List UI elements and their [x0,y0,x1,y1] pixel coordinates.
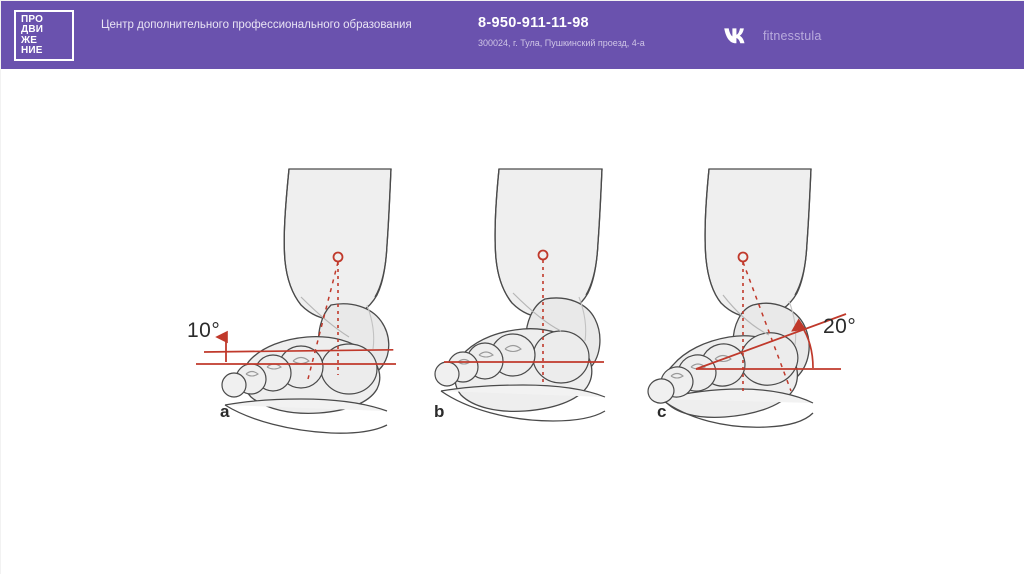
slide: ПРО ДВИ ЖЕ НИЕ Центр дополнительного про… [0,0,1024,574]
vk-icon [723,27,751,45]
panel-letter-a: a [220,402,229,422]
vk-account-name: fitnesstula [763,29,821,43]
contact-block: 8-950-911-11-98 300024, г. Тула, Пушкинс… [478,14,645,50]
angle-label-c: 20° [823,315,856,339]
prodvizhenie-logo[interactable]: ПРО ДВИ ЖЕ НИЕ [14,10,74,61]
logo-line-4: НИЕ [21,46,43,57]
vk-link[interactable]: fitnesstula [723,27,821,45]
phone-number[interactable]: 8-950-911-11-98 [478,14,645,32]
organization-title: Центр дополнительного профессионального … [101,17,431,33]
postal-address: 300024, г. Тула, Пушкинский проезд, 4-а [478,36,645,50]
panel-a-illustration [196,169,396,433]
page-header: ПРО ДВИ ЖЕ НИЕ Центр дополнительного про… [1,1,1024,69]
panel-b-illustration [435,169,605,421]
logo-line-2: ДВИ [21,25,43,36]
panel-c-illustration [645,169,846,427]
panel-letter-b: b [434,402,444,422]
foot-position-diagram [1,69,1024,575]
panel-letter-c: c [657,402,666,422]
angle-label-a: 10° [187,319,220,343]
figure-area: 10° 20° a b c [1,69,1024,575]
